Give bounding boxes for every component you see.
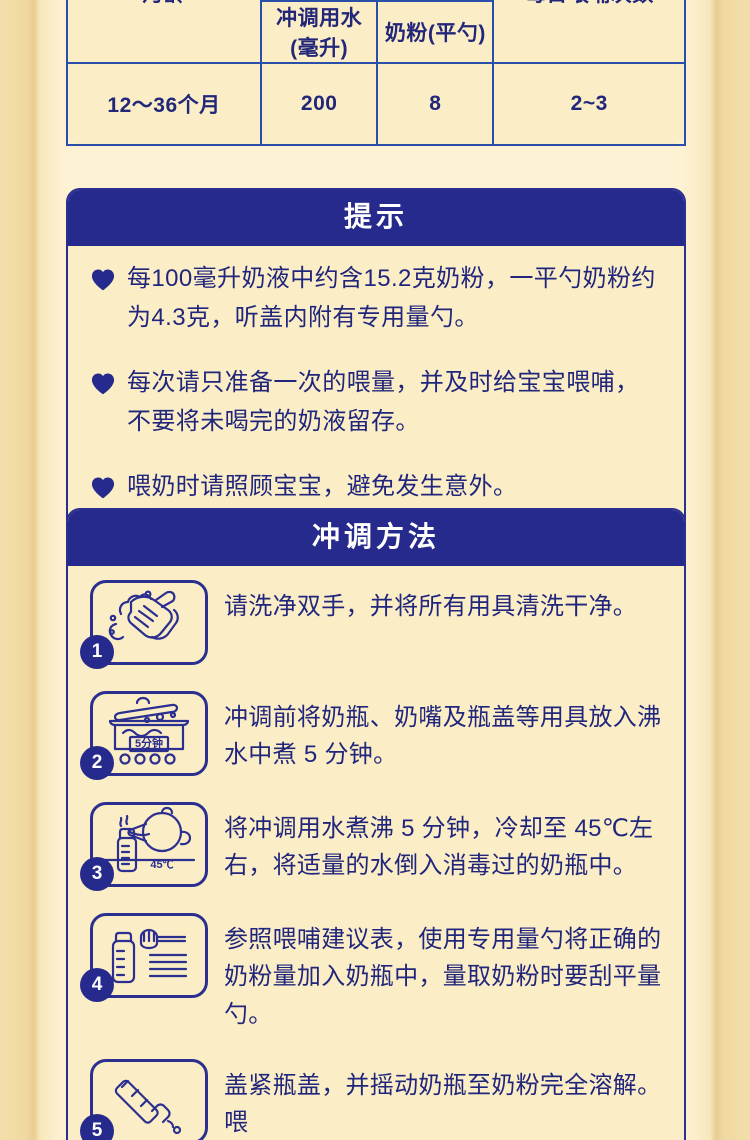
tip-text: 每次请只准备一次的喂量，并及时给宝宝喂哺，不要将未喝完的奶液留存。	[127, 364, 662, 442]
list-item: 每次请只准备一次的喂量，并及时给宝宝喂哺，不要将未喝完的奶液留存。	[90, 364, 662, 442]
icon-label-45c: 45℃	[150, 858, 173, 871]
table-cell-powder: 8	[377, 63, 493, 145]
step-number: 3	[80, 857, 114, 891]
feeding-table-container: 月龄 每次喂哺量 每日喂哺次数 冲调用水(毫升) 奶粉(平勺) 12～36个月 …	[66, 0, 686, 146]
feeding-suggestion-table: 月龄 每次喂哺量 每日喂哺次数 冲调用水(毫升) 奶粉(平勺) 12～36个月 …	[66, 0, 686, 146]
table-header-age: 月龄	[67, 0, 261, 63]
tips-panel: 提示 每100毫升奶液中约含15.2克奶粉，一平勺奶粉约为4.3克，听盖内附有专…	[66, 188, 686, 533]
heart-icon	[90, 475, 116, 501]
list-item: 1 请洗净双手，并将所有用具清洗干净。	[90, 580, 662, 665]
tips-panel-title: 提示	[68, 190, 684, 246]
product-instruction-page: 月龄 每次喂哺量 每日喂哺次数 冲调用水(毫升) 奶粉(平勺) 12～36个月 …	[0, 0, 750, 1140]
list-item: 5 盖紧瓶盖，并摇动奶瓶至奶粉完全溶解。喂	[90, 1059, 662, 1140]
kettle-bottle-icon: 45℃ 3	[90, 802, 208, 887]
step-number: 2	[80, 746, 114, 780]
step-text: 参照喂哺建议表，使用专用量勺将正确的奶粉量加入奶瓶中，量取奶粉时要刮平量勺。	[224, 913, 662, 1033]
bottle-scoop-chart-icon: 4	[90, 913, 208, 998]
step-text: 请洗净双手，并将所有用具清洗干净。	[224, 580, 637, 625]
step-text: 将冲调用水煮沸 5 分钟，冷却至 45℃左右，将适量的水倒入消毒过的奶瓶中。	[224, 802, 662, 884]
icon-label-5min: 5分钟	[135, 736, 163, 750]
shaking-bottle-icon: 5	[90, 1059, 208, 1140]
preparation-method-panel: 冲调方法	[66, 508, 686, 1140]
list-item: 45℃ 3 将冲调用水煮沸 5 分钟，冷却至 45℃左右，将适量的水倒入消毒过的…	[90, 802, 662, 887]
heart-icon	[90, 371, 116, 397]
list-item: 4 参照喂哺建议表，使用专用量勺将正确的奶粉量加入奶瓶中，量取奶粉时要刮平量勺。	[90, 913, 662, 1033]
table-header-times: 每日喂哺次数	[493, 0, 685, 63]
boiling-pot-icon: 5分钟 2	[90, 691, 208, 776]
tip-text: 喂奶时请照顾宝宝，避免发生意外。	[127, 468, 517, 507]
table-header-powder: 奶粉(平勺)	[377, 1, 493, 63]
list-item: 每100毫升奶液中约含15.2克奶粉，一平勺奶粉约为4.3克，听盖内附有专用量勺…	[90, 260, 662, 338]
tips-panel-body: 每100毫升奶液中约含15.2克奶粉，一平勺奶粉约为4.3克，听盖内附有专用量勺…	[68, 246, 684, 530]
list-item: 5分钟 2 冲调前将奶瓶、奶嘴及瓶盖等用具放入沸水中煮 5 分钟。	[90, 691, 662, 776]
list-item: 喂奶时请照顾宝宝，避免发生意外。	[90, 468, 662, 507]
method-panel-title: 冲调方法	[68, 510, 684, 566]
table-header-water: 冲调用水(毫升)	[261, 1, 377, 63]
table-row: 12～36个月 200 8 2~3	[67, 63, 685, 145]
step-number: 4	[80, 968, 114, 1002]
method-panel-body: 1 请洗净双手，并将所有用具清洗干净。	[68, 566, 684, 1140]
step-number: 1	[80, 635, 114, 669]
step-text: 盖紧瓶盖，并摇动奶瓶至奶粉完全溶解。喂	[224, 1059, 662, 1140]
table-cell-water: 200	[261, 63, 377, 145]
table-cell-times: 2~3	[493, 63, 685, 145]
table-cell-age: 12～36个月	[67, 63, 261, 145]
heart-icon	[90, 267, 116, 293]
tip-text: 每100毫升奶液中约含15.2克奶粉，一平勺奶粉约为4.3克，听盖内附有专用量勺…	[127, 260, 662, 338]
step-text: 冲调前将奶瓶、奶嘴及瓶盖等用具放入沸水中煮 5 分钟。	[224, 691, 662, 773]
washing-hands-icon: 1	[90, 580, 208, 665]
